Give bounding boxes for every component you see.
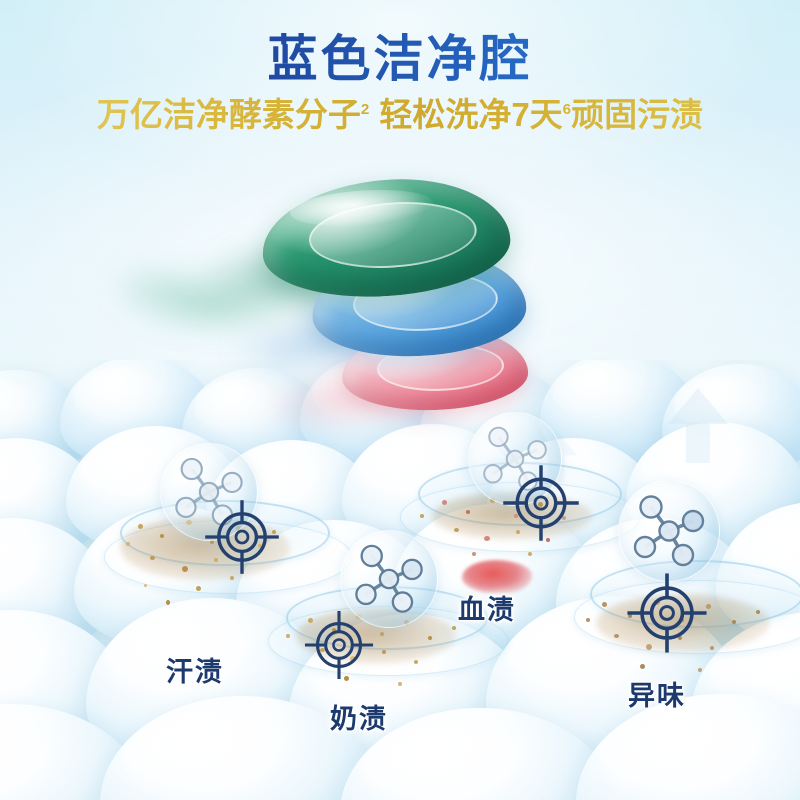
page-title: 蓝色洁净腔 xyxy=(0,32,800,87)
stain-label-sweat: 汗渍 xyxy=(166,650,224,689)
stain-label-odor: 异味 xyxy=(628,674,686,713)
product-poster: 汗渍 xyxy=(0,0,800,800)
crosshair-target-icon xyxy=(302,608,376,682)
crosshair-target-icon xyxy=(500,462,582,544)
page-subtitle: 万亿洁净酵素分子2轻松洗净7天6顽固污渍 xyxy=(0,95,800,135)
crosshair-target-icon xyxy=(624,570,710,656)
headline-block: 蓝色洁净腔 万亿洁净酵素分子2轻松洗净7天6顽固污渍 xyxy=(0,32,800,135)
subtitle-part-1: 万亿洁净酵素分子 xyxy=(97,96,361,133)
subtitle-superscript-2: 6 xyxy=(563,101,571,118)
green-smoke-trail xyxy=(120,238,370,378)
molecule-icon xyxy=(619,481,719,581)
green-pod xyxy=(258,171,513,304)
stain-label-milk: 奶渍 xyxy=(330,697,388,736)
blue-pod xyxy=(309,246,528,361)
subtitle-part-3: 顽固污渍 xyxy=(571,96,703,133)
crosshair-target-icon xyxy=(202,497,282,577)
subtitle-superscript-1: 2 xyxy=(361,101,369,118)
subtitle-part-2: 轻松洗净7天 xyxy=(379,96,562,133)
molecule-bubble xyxy=(618,480,720,582)
stain-label-blood: 血渍 xyxy=(458,588,516,627)
